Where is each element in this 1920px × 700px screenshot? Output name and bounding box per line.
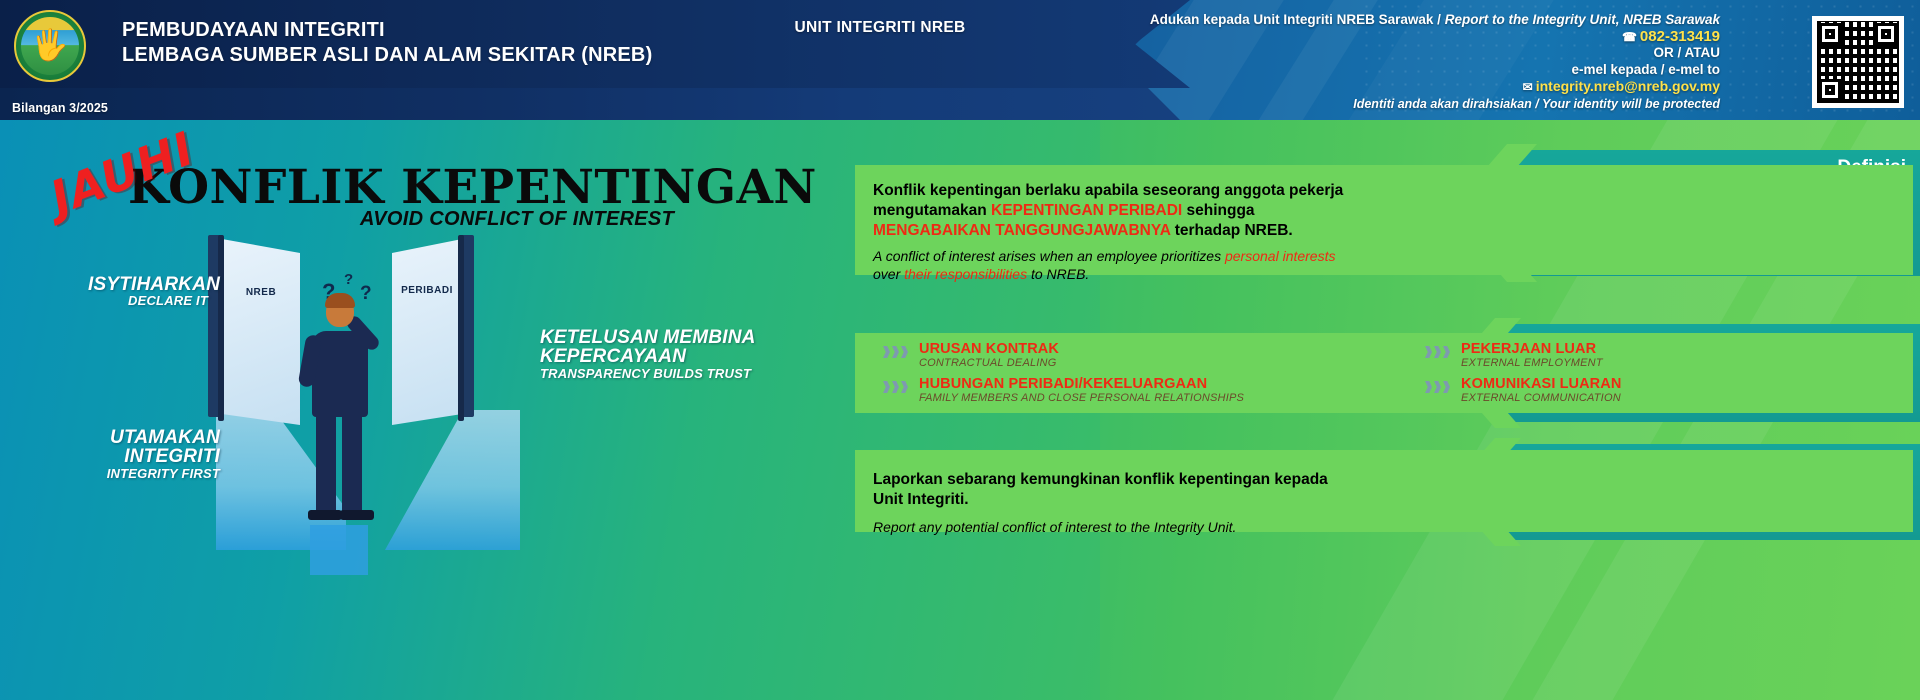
definition-bm-red2: MENGABAIKAN TANGGUNGJAWABNYA <box>873 222 1170 239</box>
example-item: PEKERJAAN LUAR EXTERNAL EMPLOYMENT <box>1425 341 1855 370</box>
report-line: Adukan kepada Unit Integriti NREB Sarawa… <box>960 12 1720 29</box>
report-text-bm: Adukan kepada Unit Integriti NREB Sarawa… <box>1150 12 1434 27</box>
nreb-logo-icon: 🖐 <box>14 10 86 82</box>
example-item-title: PEKERJAAN LUAR <box>1461 341 1855 357</box>
example-item-sub: FAMILY MEMBERS AND CLOSE PERSONAL RELATI… <box>919 392 1413 405</box>
organisation-title-line2: LEMBAGA SUMBER ASLI DAN ALAM SEKITAR (NR… <box>122 43 652 68</box>
label-ketelusan-bm-1: KETELUSAN MEMBINA <box>540 328 780 347</box>
definition-bm-red1: KEPENTINGAN PERIBADI <box>991 202 1182 219</box>
panel-example: URUSAN KONTRAK CONTRACTUAL DEALING HUBUN… <box>855 333 1913 413</box>
label-utamakan-en: INTEGRITY FIRST <box>30 467 220 480</box>
door-left-label: NREB <box>222 287 300 298</box>
organisation-title: PEMBUDAYAAN INTEGRITI LEMBAGA SUMBER ASL… <box>122 18 652 68</box>
doors-illustration: NREB PERIBADI ? ? ? <box>170 235 590 565</box>
definition-content: Konflik kepentingan berlaku apabila sese… <box>873 181 1353 283</box>
label-utamakan: UTAMAKAN INTEGRITI INTEGRITY FIRST <box>30 428 220 480</box>
definition-en: A conflict of interest arises when an em… <box>873 247 1353 283</box>
floor-glow <box>310 525 368 575</box>
definition-en-part3: to NREB. <box>1027 266 1089 282</box>
chevron-right-icon <box>1425 346 1455 358</box>
example-item: HUBUNGAN PERIBADI/KEKELUARGAAN FAMILY ME… <box>883 376 1413 405</box>
light-beam-right <box>385 410 520 550</box>
page-title: KONFLIK KEPENTINGAN <box>128 160 817 215</box>
definition-en-part1: A conflict of interest arises when an em… <box>873 248 1225 264</box>
action-bm: Laporkan sebarang kemungkinan konflik ke… <box>873 470 1353 510</box>
example-item-title: HUBUNGAN PERIBADI/KEKELUARGAAN <box>919 376 1413 392</box>
email-address[interactable]: integrity.nreb@nreb.gov.my <box>1536 78 1720 94</box>
page-header: 🖐 PEMBUDAYAAN INTEGRITI LEMBAGA SUMBER A… <box>0 0 1920 120</box>
label-utamakan-bm: UTAMAKAN INTEGRITI <box>30 428 220 467</box>
person-shoe-right <box>340 510 374 520</box>
infographic-poster: 🖐 PEMBUDAYAAN INTEGRITI LEMBAGA SUMBER A… <box>0 0 1920 700</box>
or-label: OR / ATAU <box>960 45 1720 62</box>
example-item-title: URUSAN KONTRAK <box>919 341 1413 357</box>
person-leg-left <box>316 415 336 513</box>
envelope-icon: ✉ <box>1523 80 1533 94</box>
qr-code[interactable] <box>1812 16 1904 108</box>
example-column-left: URUSAN KONTRAK CONTRACTUAL DEALING HUBUN… <box>883 341 1413 411</box>
door-left-panel <box>222 239 300 425</box>
example-item-title: KOMUNIKASI LUARAN <box>1461 376 1855 392</box>
person-shoe-left <box>308 510 342 520</box>
label-isytiharkan-en: DECLARE IT <box>88 294 208 307</box>
phone-icon: ☎ <box>1622 30 1637 44</box>
label-ketelusan-en: TRANSPARENCY BUILDS TRUST <box>540 367 780 380</box>
question-mark-icon: ? <box>344 271 353 288</box>
issue-number: Bilangan 3/2025 <box>12 101 108 115</box>
example-item-sub: EXTERNAL COMMUNICATION <box>1461 392 1855 405</box>
definition-bm: Konflik kepentingan berlaku apabila sese… <box>873 181 1353 241</box>
panel-action: Laporkan sebarang kemungkinan konflik ke… <box>855 450 1913 532</box>
example-item-sub: CONTRACTUAL DEALING <box>919 357 1413 370</box>
door-left-edge <box>218 235 224 421</box>
door-right-edge <box>458 235 464 421</box>
email-label: e-mel kepada / e-mel to <box>960 62 1720 79</box>
definition-bm-part3: terhadap NREB. <box>1170 222 1292 239</box>
email-line: ✉integrity.nreb@nreb.gov.my <box>960 78 1720 96</box>
definition-en-part2: over <box>873 266 904 282</box>
privacy-note: Identiti anda akan dirahsiakan / Your id… <box>960 96 1720 113</box>
label-ketelusan: KETELUSAN MEMBINA KEPERCAYAAN TRANSPAREN… <box>540 328 780 380</box>
report-contact-block: Adukan kepada Unit Integriti NREB Sarawa… <box>960 12 1720 112</box>
definition-bm-part2: sehingga <box>1182 202 1254 219</box>
phone-number[interactable]: 082-313419 <box>1640 28 1720 45</box>
definition-en-red2: their responsibilities <box>904 266 1027 282</box>
chevron-right-icon <box>883 346 913 358</box>
action-content: Laporkan sebarang kemungkinan konflik ke… <box>873 470 1353 536</box>
action-en: Report any potential conflict of interes… <box>873 518 1353 536</box>
report-text-en: Report to the Integrity Unit, NREB Saraw… <box>1445 12 1720 27</box>
person-hair <box>325 293 355 308</box>
example-item: KOMUNIKASI LUARAN EXTERNAL COMMUNICATION <box>1425 376 1855 405</box>
definition-en-red1: personal interests <box>1225 248 1336 264</box>
label-isytiharkan-bm: ISYTIHARKAN <box>88 275 208 294</box>
phone-line: ☎082-313419 <box>960 29 1720 46</box>
panel-definition: Konflik kepentingan berlaku apabila sese… <box>855 165 1913 275</box>
chevron-right-icon <box>1425 381 1455 393</box>
organisation-title-line1: PEMBUDAYAAN INTEGRITI <box>122 18 652 43</box>
label-isytiharkan: ISYTIHARKAN DECLARE IT <box>88 275 208 308</box>
person-leg-right <box>342 415 362 513</box>
example-item: URUSAN KONTRAK CONTRACTUAL DEALING <box>883 341 1413 370</box>
example-item-sub: EXTERNAL EMPLOYMENT <box>1461 357 1855 370</box>
door-right-label: PERIBADI <box>392 285 462 296</box>
label-ketelusan-bm-2: KEPERCAYAAN <box>540 347 780 366</box>
question-mark-icon: ? <box>360 283 372 305</box>
report-separator: / <box>1437 12 1441 27</box>
door-right-panel <box>392 239 462 425</box>
chevron-right-icon <box>883 381 913 393</box>
example-column-right: PEKERJAAN LUAR EXTERNAL EMPLOYMENT KOMUN… <box>1425 341 1855 411</box>
